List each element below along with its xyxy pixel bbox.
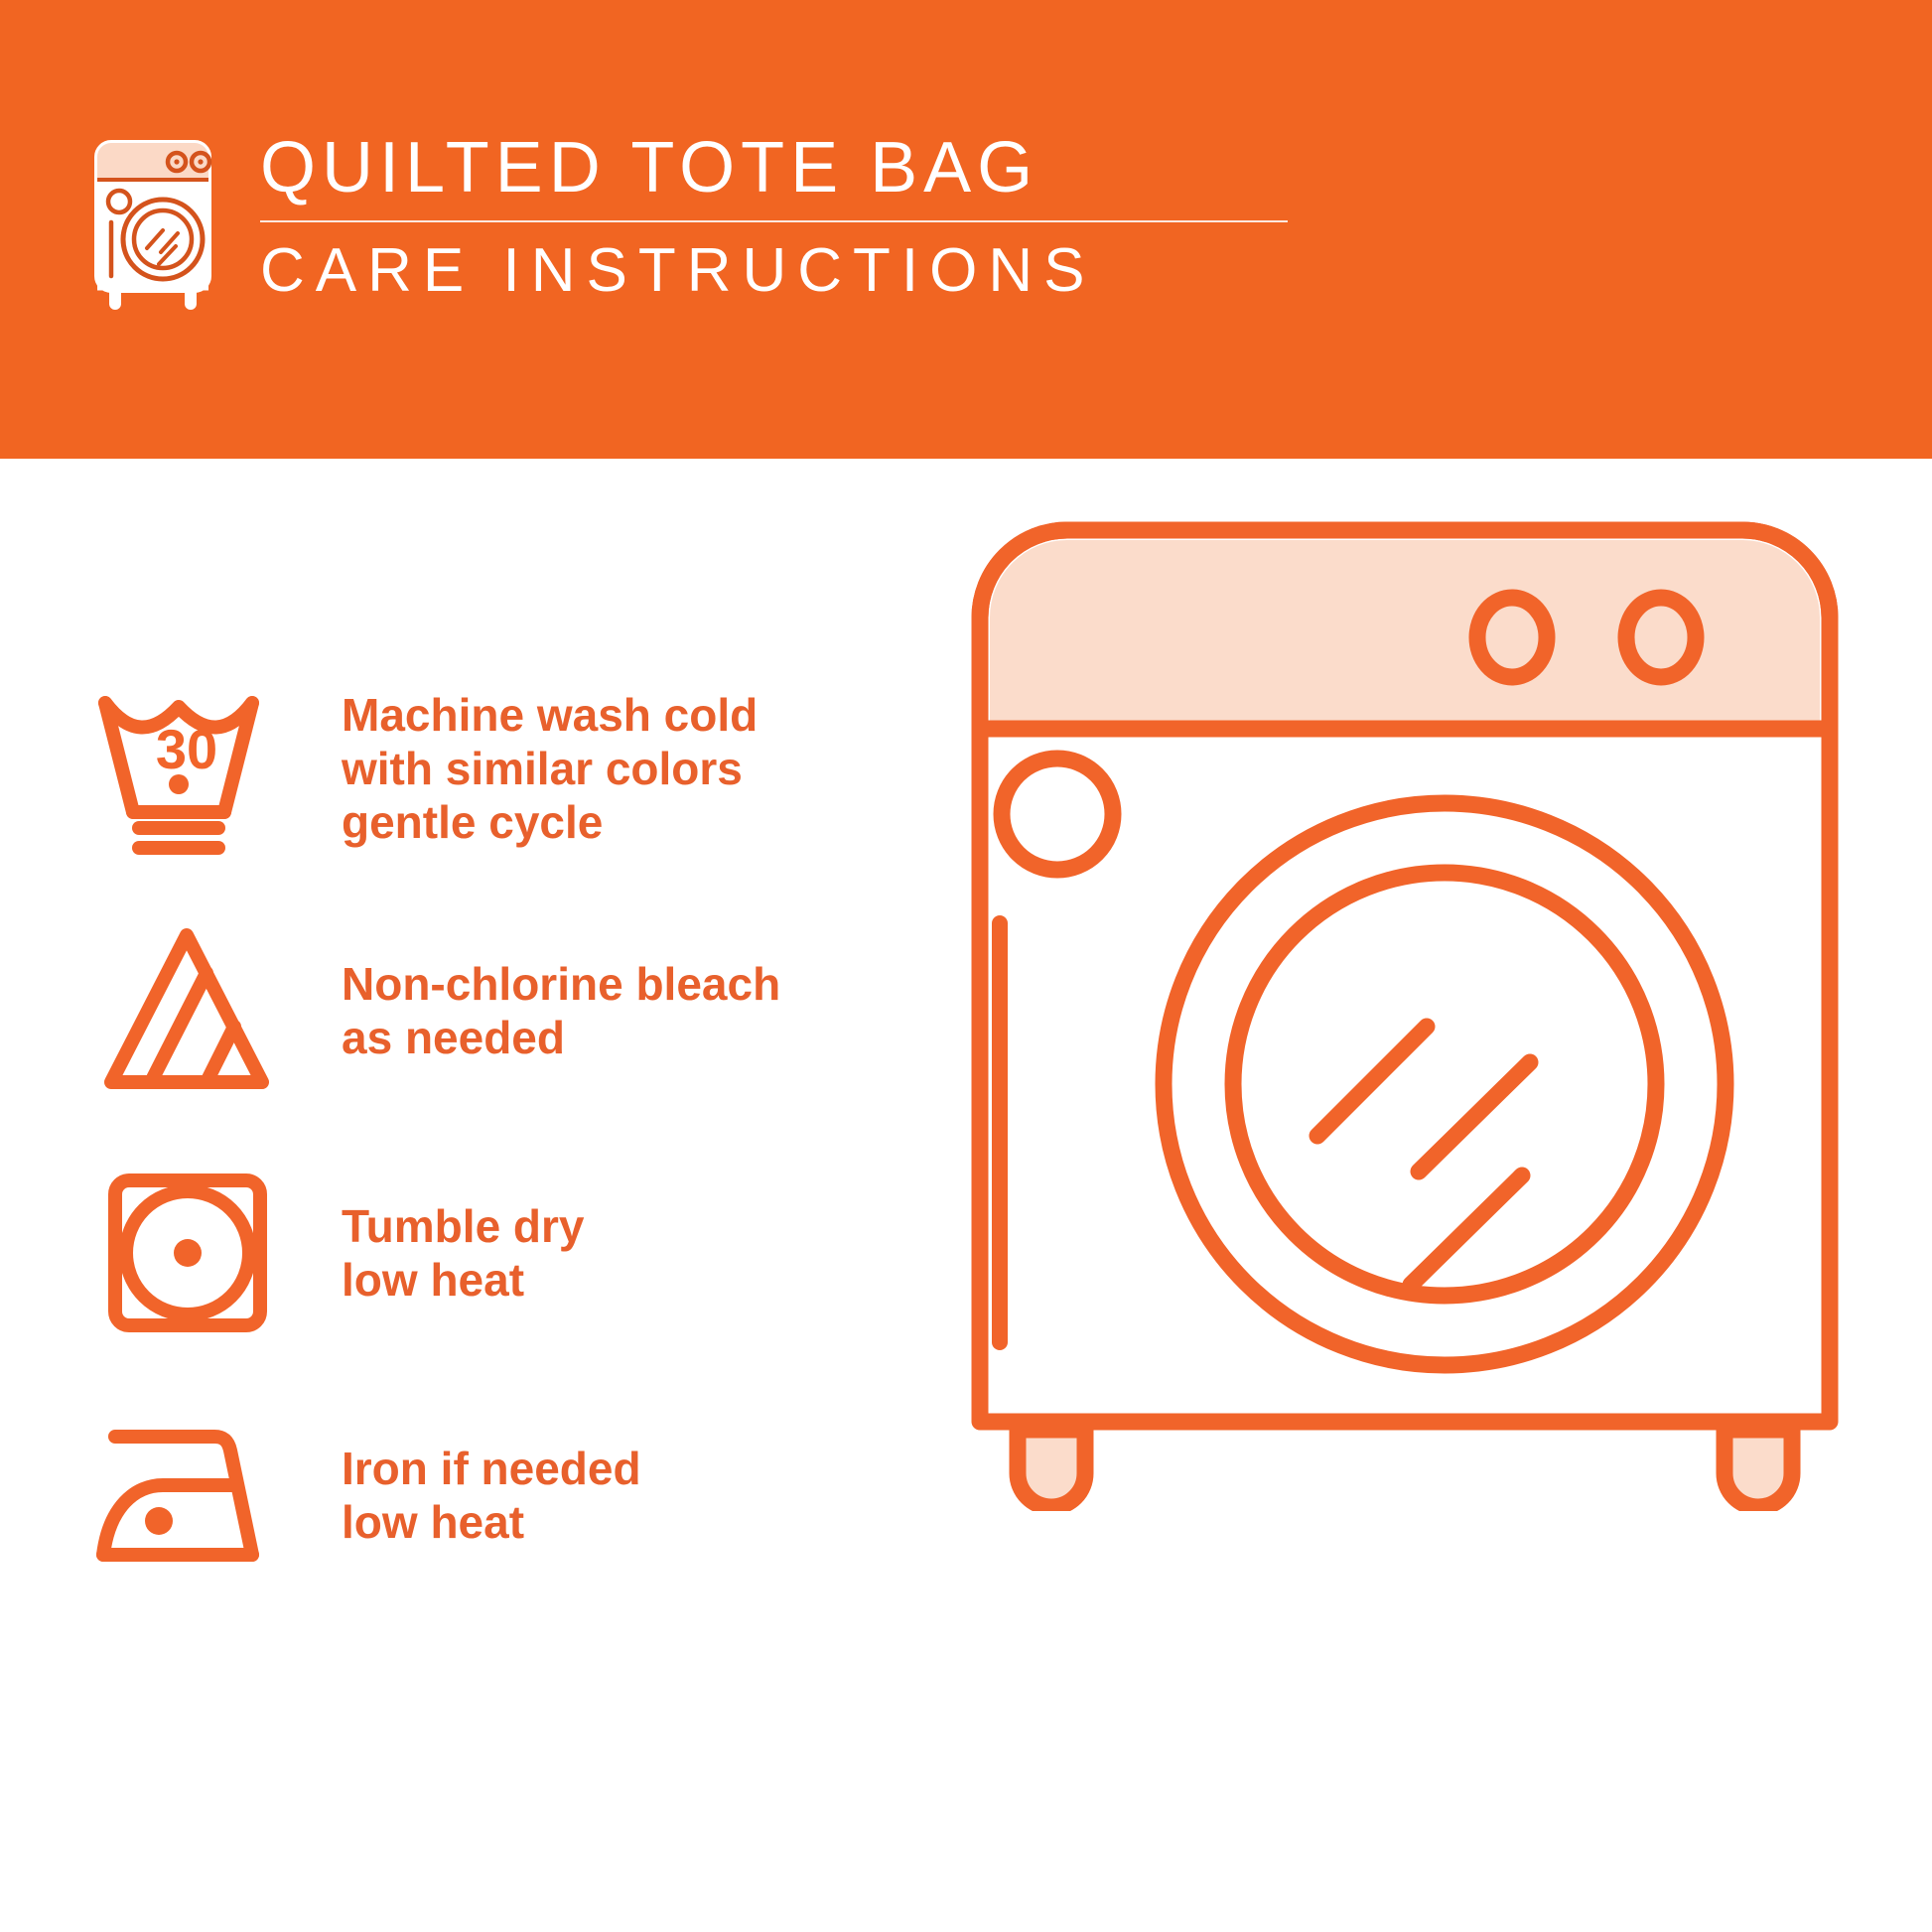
- page-title: QUILTED TOTE BAG: [260, 127, 1288, 208]
- iron-low-heat-icon: [87, 1404, 336, 1587]
- non-chlorine-bleach-triangle-icon: [87, 919, 336, 1103]
- wash-temp-value: 30: [156, 718, 217, 780]
- main-content: 30 Machine wash cold with similar colors…: [0, 459, 1932, 1932]
- care-row: 30 Machine wash cold with similar colors…: [87, 647, 911, 890]
- header-titles: QUILTED TOTE BAG CARE INSTRUCTIONS: [260, 127, 1288, 306]
- title-divider: [260, 220, 1288, 222]
- page-subtitle: CARE INSTRUCTIONS: [260, 236, 1288, 306]
- care-row: Tumble dry low heat: [87, 1132, 911, 1374]
- care-label: Non-chlorine bleach as needed: [336, 957, 780, 1064]
- care-row: Non-chlorine bleach as needed: [87, 890, 911, 1132]
- tumble-dry-low-heat-icon: [87, 1162, 336, 1345]
- washing-machine-icon: [77, 135, 228, 312]
- care-label: Machine wash cold with similar colors ge…: [336, 688, 758, 849]
- care-instruction-list: 30 Machine wash cold with similar colors…: [87, 647, 911, 1616]
- care-label: Iron if needed low heat: [336, 1442, 641, 1549]
- header-content: QUILTED TOTE BAG CARE INSTRUCTIONS: [77, 127, 1288, 312]
- header-banner: QUILTED TOTE BAG CARE INSTRUCTIONS: [0, 0, 1932, 459]
- care-label: Tumble dry low heat: [336, 1199, 585, 1307]
- washing-machine-illustration: [958, 508, 1852, 1511]
- wash-tub-30-gentle-icon: 30: [87, 677, 336, 861]
- care-row: Iron if needed low heat: [87, 1374, 911, 1616]
